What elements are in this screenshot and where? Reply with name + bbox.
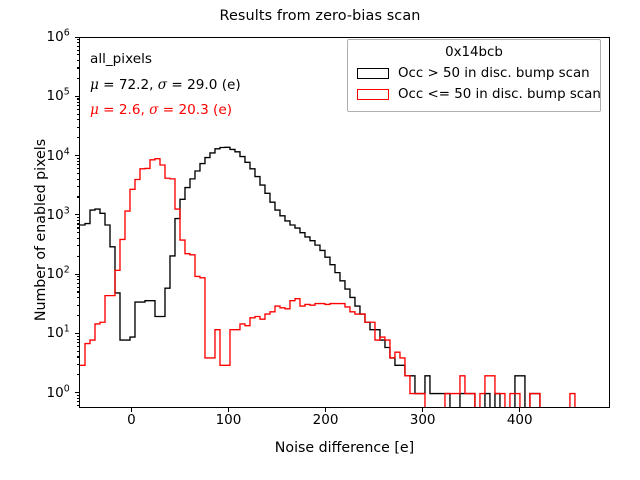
- y-minor-tick: [77, 102, 80, 103]
- y-minor-tick: [77, 276, 80, 277]
- y-tick-label: 104: [0, 148, 74, 164]
- sigma-value-black: = 29.0 (e): [167, 77, 241, 93]
- x-tick-label: 100: [216, 412, 242, 428]
- y-minor-tick: [77, 405, 80, 406]
- y-minor-tick: [77, 279, 80, 280]
- y-minor-tick: [77, 67, 80, 68]
- legend-item-occ-gt-50[interactable]: Occ > 50 in disc. bump scan: [355, 63, 593, 84]
- y-major-tick: [75, 155, 79, 156]
- y-minor-tick: [77, 217, 80, 218]
- y-minor-tick: [77, 398, 80, 399]
- x-tick-label: 200: [313, 412, 339, 428]
- annotation-line-all-pixels: all_pixels: [90, 47, 241, 73]
- y-minor-tick: [77, 220, 80, 221]
- y-minor-tick: [77, 196, 80, 197]
- y-minor-tick: [77, 336, 80, 337]
- legend-item-occ-le-50[interactable]: Occ <= 50 in disc. bump scan: [355, 84, 593, 105]
- y-minor-tick: [77, 105, 80, 106]
- y-minor-tick: [77, 401, 80, 402]
- y-tick-label: 102: [0, 266, 74, 282]
- legend-swatch-black-icon: [357, 68, 389, 79]
- y-minor-tick: [77, 339, 80, 340]
- stats-annotation: all_pixels μ = 72.2, σ = 29.0 (e) μ = 2.…: [90, 47, 241, 124]
- y-minor-tick: [77, 164, 80, 165]
- y-minor-tick: [77, 179, 80, 180]
- legend-label-occ-gt-50: Occ > 50 in disc. bump scan: [398, 66, 590, 81]
- y-minor-tick: [77, 119, 80, 120]
- y-minor-tick: [77, 39, 80, 40]
- y-minor-tick: [77, 158, 80, 159]
- y-major-tick: [75, 214, 79, 215]
- y-major-tick: [75, 333, 79, 334]
- figure: Results from zero-bias scan Number of en…: [0, 0, 640, 480]
- y-minor-tick: [77, 283, 80, 284]
- legend-label-occ-le-50: Occ <= 50 in disc. bump scan: [398, 87, 601, 102]
- y-minor-tick: [77, 60, 80, 61]
- legend: 0x14bcb Occ > 50 in disc. bump scan Occ …: [347, 39, 601, 112]
- mu-symbol-red: μ: [90, 102, 99, 118]
- mu-symbol-black: μ: [90, 77, 99, 93]
- y-minor-tick: [77, 287, 80, 288]
- y-minor-tick: [77, 78, 80, 79]
- y-minor-tick: [77, 364, 80, 365]
- y-minor-tick: [77, 227, 80, 228]
- y-tick-label: 105: [0, 88, 74, 104]
- y-minor-tick: [77, 305, 80, 306]
- mu-value-black: = 72.2,: [99, 77, 158, 93]
- x-tick-label: 400: [507, 412, 533, 428]
- y-minor-tick: [77, 297, 80, 298]
- y-minor-tick: [77, 351, 80, 352]
- annotation-line-red-stats: μ = 2.6, σ = 20.3 (e): [90, 98, 241, 124]
- y-minor-tick: [77, 232, 80, 233]
- y-tick-label: 100: [0, 385, 74, 401]
- sigma-symbol-black: σ: [158, 77, 167, 93]
- y-minor-tick: [77, 238, 80, 239]
- y-minor-tick: [77, 98, 80, 99]
- y-major-tick: [75, 37, 79, 38]
- y-minor-tick: [77, 315, 80, 316]
- y-minor-tick: [77, 374, 80, 375]
- y-minor-tick: [77, 256, 80, 257]
- y-minor-tick: [77, 223, 80, 224]
- y-minor-tick: [77, 42, 80, 43]
- y-minor-tick: [77, 342, 80, 343]
- y-tick-label: 103: [0, 207, 74, 223]
- y-minor-tick: [77, 50, 80, 51]
- annotation-line-black-stats: μ = 72.2, σ = 29.0 (e): [90, 73, 241, 99]
- y-minor-tick: [77, 291, 80, 292]
- y-minor-tick: [77, 137, 80, 138]
- x-axis-label: Noise difference [e]: [79, 440, 610, 456]
- y-minor-tick: [77, 173, 80, 174]
- y-major-tick: [75, 392, 79, 393]
- y-minor-tick: [77, 127, 80, 128]
- y-minor-tick: [77, 168, 80, 169]
- sigma-value-red: = 20.3 (e): [158, 102, 232, 118]
- y-major-tick: [75, 274, 79, 275]
- y-minor-tick: [77, 161, 80, 162]
- x-tick-label: 0: [127, 412, 136, 428]
- y-minor-tick: [77, 186, 80, 187]
- x-tick-label: 300: [410, 412, 436, 428]
- legend-title: 0x14bcb: [355, 45, 593, 60]
- legend-swatch-red-icon: [357, 89, 389, 100]
- y-minor-tick: [77, 54, 80, 55]
- y-tick-label: 106: [0, 29, 74, 45]
- page-title: Results from zero-bias scan: [0, 8, 640, 24]
- series-line-occ-gt-50: [80, 147, 610, 408]
- y-minor-tick: [77, 395, 80, 396]
- y-minor-tick: [77, 245, 80, 246]
- y-tick-label: 101: [0, 325, 74, 341]
- y-major-tick: [75, 96, 79, 97]
- y-minor-tick: [77, 356, 80, 357]
- y-minor-tick: [77, 46, 80, 47]
- y-minor-tick: [77, 109, 80, 110]
- mu-value-red: = 2.6,: [99, 102, 149, 118]
- y-minor-tick: [77, 114, 80, 115]
- y-minor-tick: [77, 346, 80, 347]
